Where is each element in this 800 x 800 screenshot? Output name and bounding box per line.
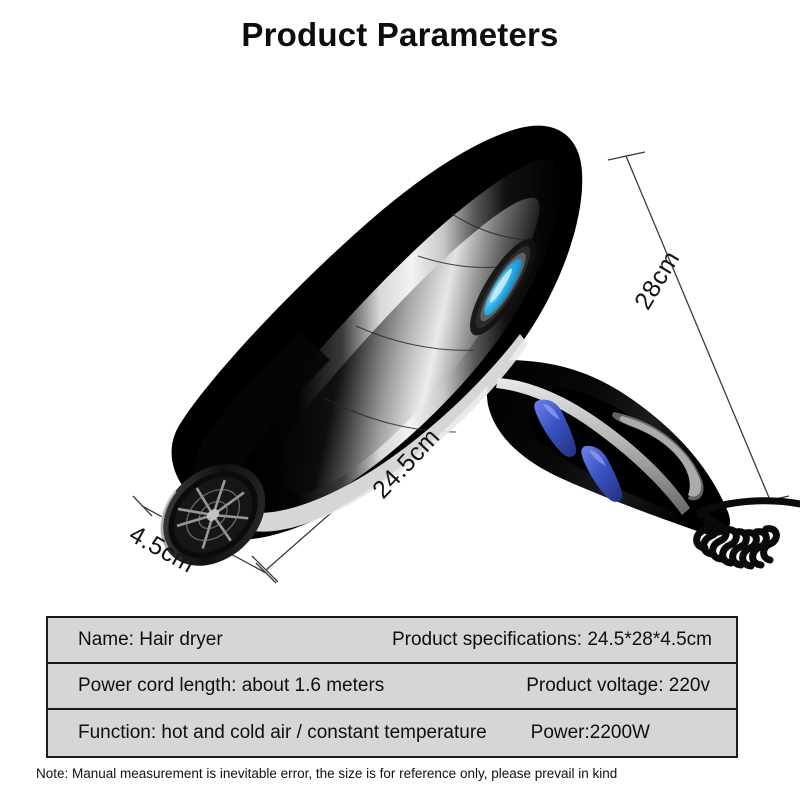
hair-dryer-drawing [0, 60, 800, 605]
spec-cord-length-label: Power cord length: about 1.6 meters [48, 675, 384, 697]
footnote: Note: Manual measurement is inevitable e… [36, 766, 617, 781]
page-title: Product Parameters [0, 16, 800, 54]
spec-function-label: Function: hot and cold air / constant te… [48, 722, 487, 744]
spec-voltage-label: Product voltage: 220v [526, 675, 736, 697]
table-row: Function: hot and cold air / constant te… [48, 710, 736, 756]
spec-specifications-label: Product specifications: 24.5*28*4.5cm [392, 629, 736, 651]
spec-table: Name: Hair dryer Product specifications:… [46, 616, 738, 758]
table-row: Power cord length: about 1.6 meters Prod… [48, 664, 736, 710]
spec-power-label: Power:2200W [531, 722, 736, 744]
product-illustration [0, 60, 800, 605]
power-cord [697, 515, 777, 566]
table-row: Name: Hair dryer Product specifications:… [48, 618, 736, 664]
spec-name-label: Name: Hair dryer [48, 629, 223, 651]
